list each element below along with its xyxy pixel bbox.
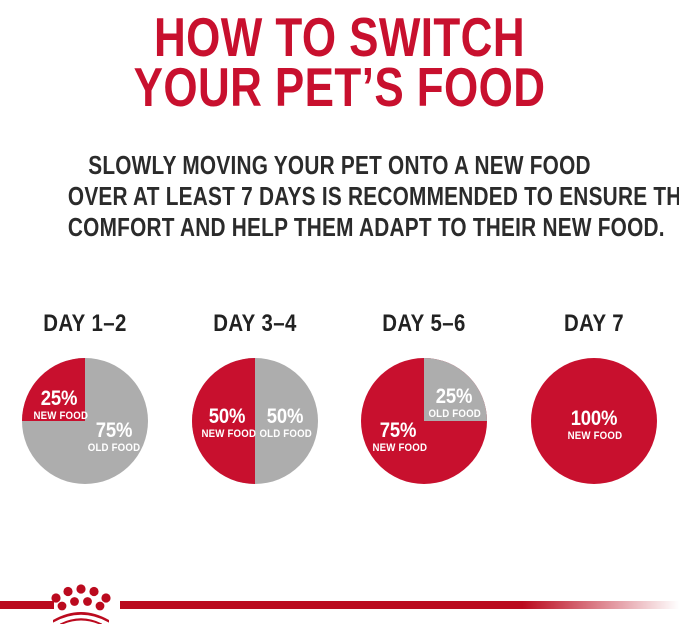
footer-rule-left	[0, 601, 54, 609]
subtitle-line-2: OVER AT LEAST 7 DAYS IS RECOMMENDED TO E…	[68, 181, 611, 212]
day-label-1: DAY 1–2	[17, 312, 153, 336]
page-title-line-1: HOW TO SWITCH	[68, 12, 611, 62]
day-label-3: DAY 5–6	[356, 312, 492, 336]
pie-svg-3	[361, 358, 487, 484]
pie-chart-day-1-2: 25% NEW FOOD 75% OLD FOOD	[22, 358, 148, 484]
day-label-4: DAY 7	[526, 312, 662, 336]
pie-chart-day-3-4: 50% NEW FOOD 50% OLD FOOD	[192, 358, 318, 484]
page-footer	[0, 580, 679, 628]
subtitle-line-3: COMFORT AND HELP THEM ADAPT TO THEIR NEW…	[68, 212, 611, 243]
day-label-2: DAY 3–4	[187, 312, 323, 336]
pie-chart-day-5-6: 25% OLD FOOD 75% NEW FOOD	[361, 358, 487, 484]
pie-slice-old-food	[424, 358, 487, 421]
page-title-line-2: YOUR PET’S FOOD	[68, 62, 611, 112]
pie-chart-day-7: 100% NEW FOOD	[531, 358, 657, 484]
crown-icon	[47, 580, 115, 624]
pie-svg-4	[531, 358, 657, 484]
page-header: HOW TO SWITCH YOUR PET’S FOOD	[0, 0, 679, 112]
pie-svg-2	[192, 358, 318, 484]
page-subtitle: SLOWLY MOVING YOUR PET ONTO A NEW FOOD O…	[0, 150, 679, 243]
pie-cell-day-5-6: DAY 5–6 25% OLD FOOD 75% NEW FOOD	[344, 312, 504, 484]
pie-slice-new-food	[531, 358, 657, 484]
page-title: HOW TO SWITCH YOUR PET’S FOOD	[0, 12, 679, 112]
pie-cell-day-7: DAY 7 100% NEW FOOD	[514, 312, 674, 484]
footer-rule-right	[120, 601, 679, 609]
pie-slice-new-food	[192, 358, 255, 484]
pie-svg-1	[22, 358, 148, 484]
pie-cell-day-1-2: DAY 1–2 25% NEW FOOD 75% OLD FOOD	[5, 312, 165, 484]
pie-chart-row: DAY 1–2 25% NEW FOOD 75% OLD FOOD DAY 3–…	[0, 312, 679, 484]
subtitle-line-1: SLOWLY MOVING YOUR PET ONTO A NEW FOOD	[68, 150, 611, 181]
pie-cell-day-3-4: DAY 3–4 50% NEW FOOD 50% OLD FOOD	[175, 312, 335, 484]
pie-slice-new-food	[22, 358, 85, 421]
